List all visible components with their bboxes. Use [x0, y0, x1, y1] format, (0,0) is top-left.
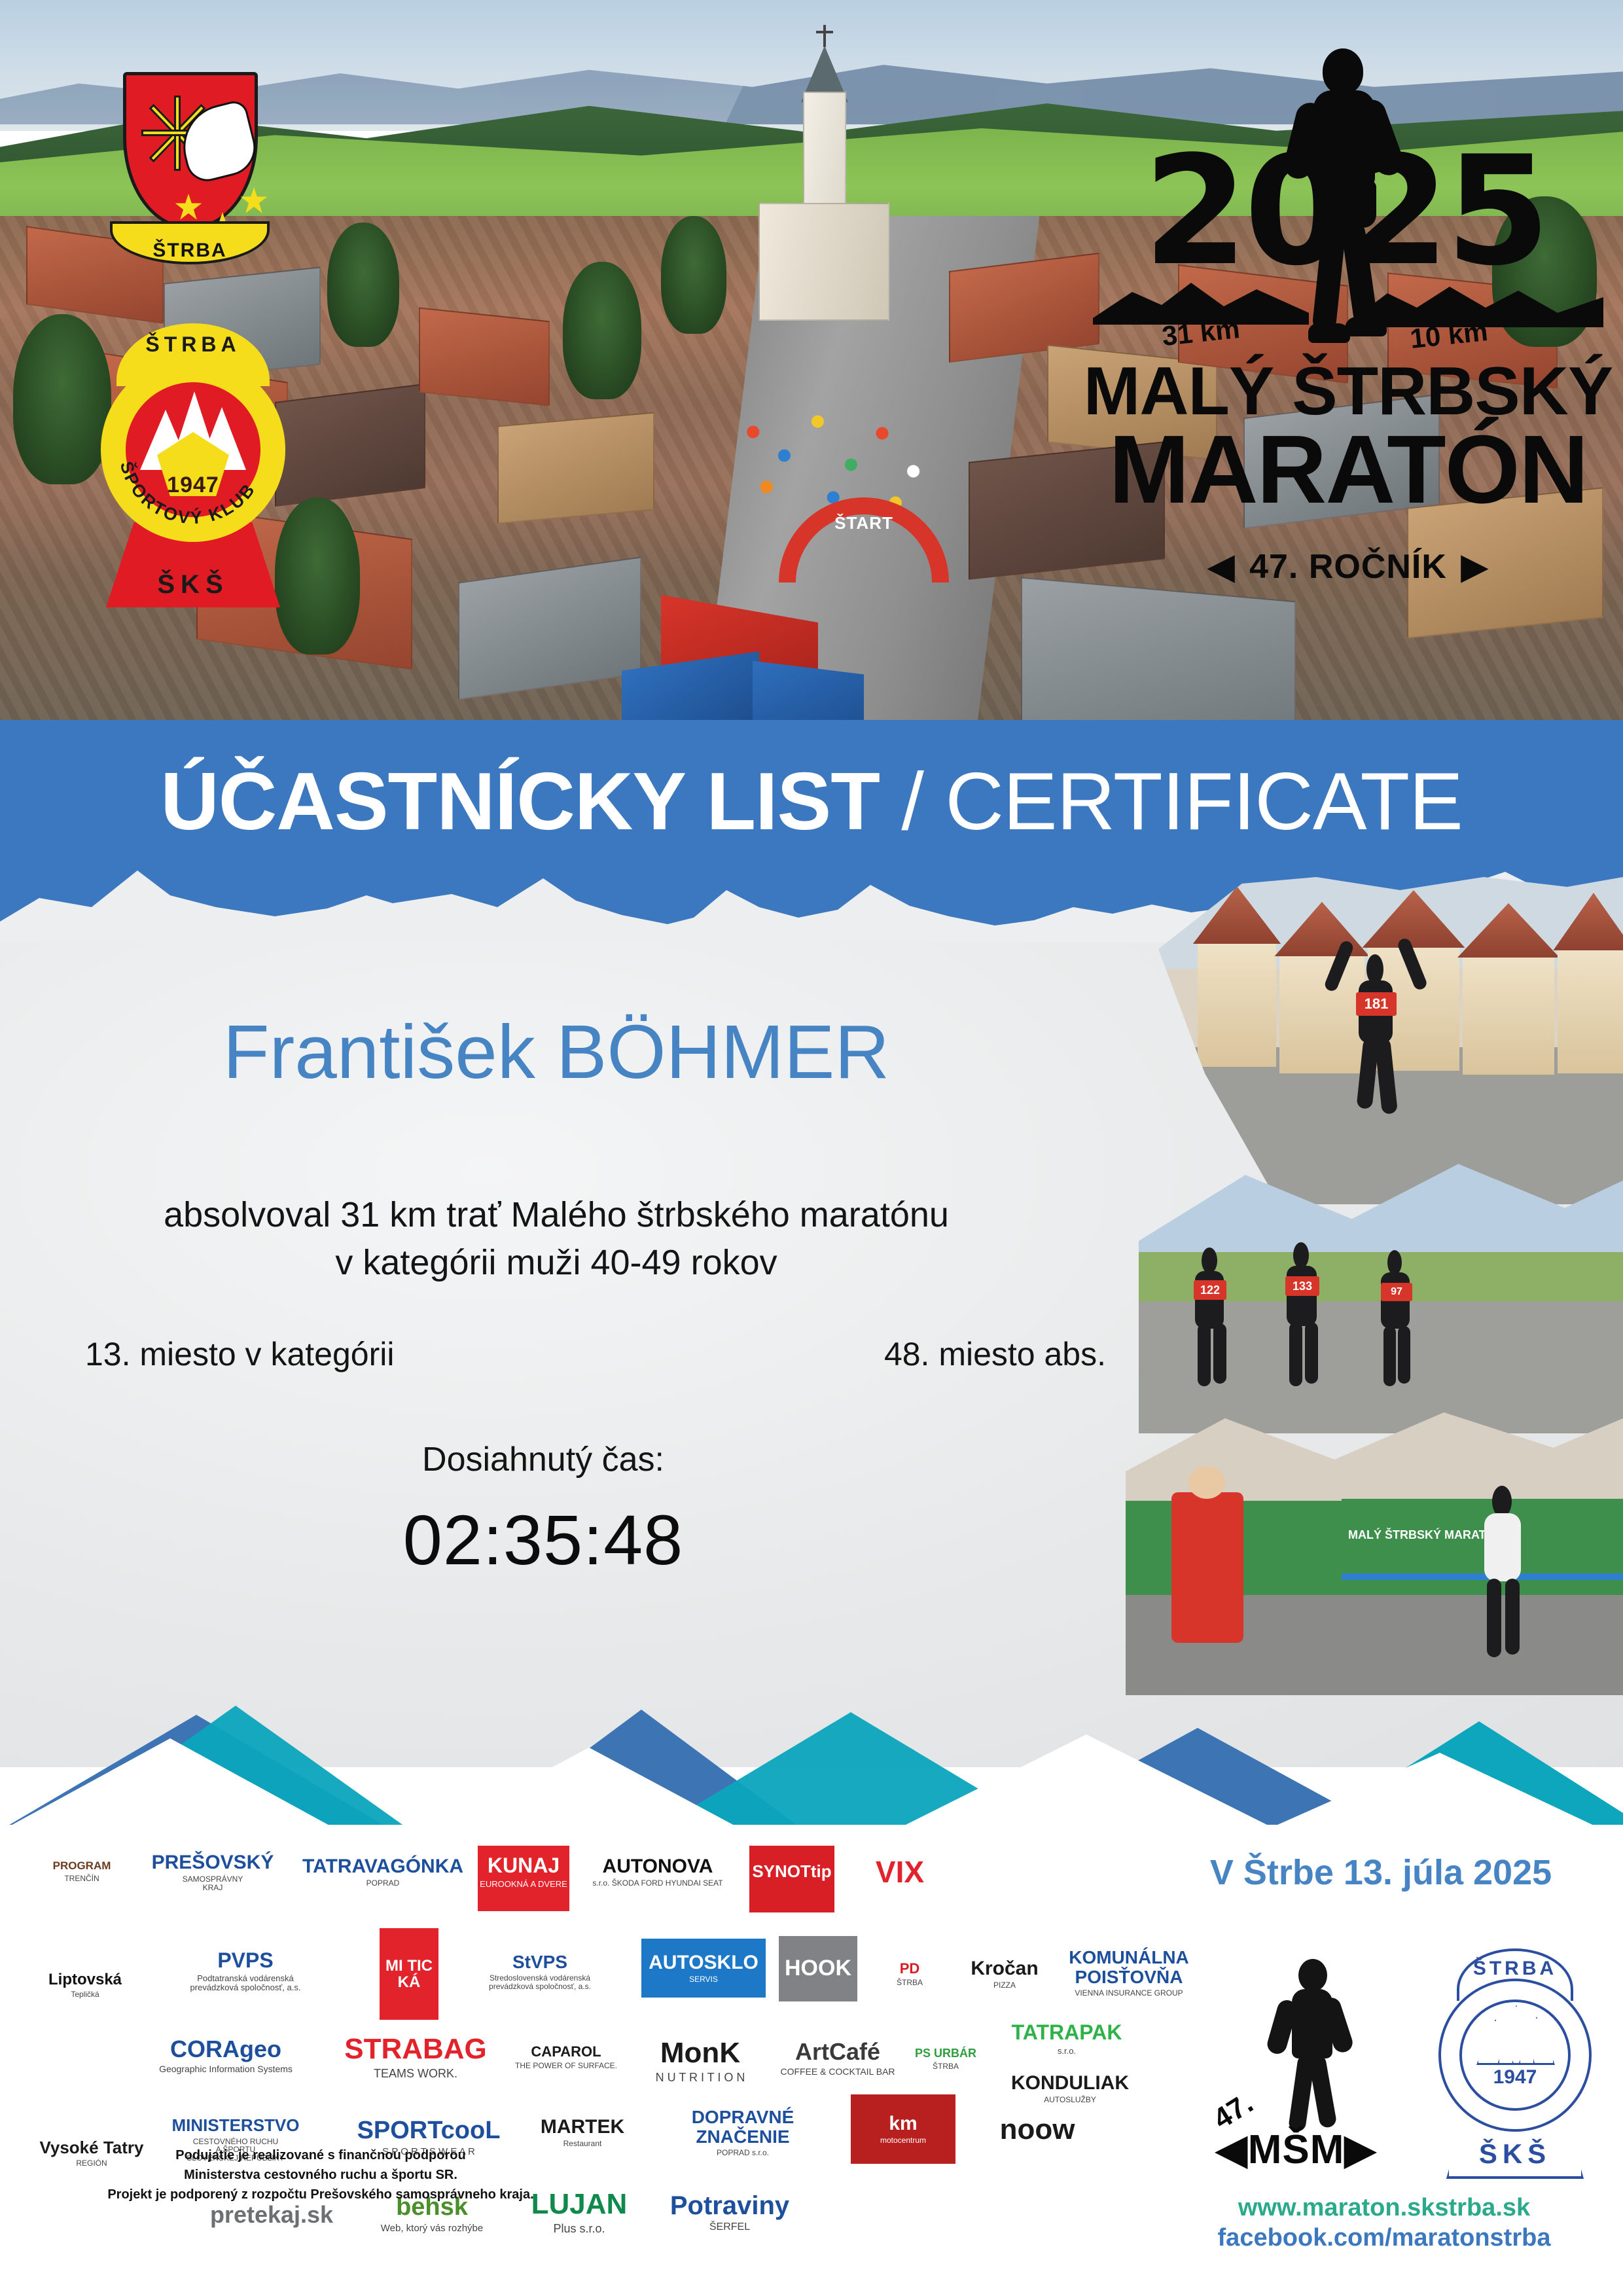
- sponsor-logo: PDŠTRBA: [870, 1935, 949, 2013]
- sponsor-name: TATRAVAGÓNKA: [302, 1856, 463, 1877]
- sponsor-tagline: SAMOSPRÁVNY KRAJ: [183, 1875, 243, 1892]
- sponsor-name: KONDULIAK: [1011, 2073, 1129, 2094]
- sponsor-name: km: [889, 2113, 917, 2134]
- finish-photo: 181: [1158, 877, 1623, 1204]
- sponsor-name: PROGRAM: [53, 1860, 111, 1872]
- page-title: ÚČASTNÍCKY LIST / CERTIFICATE: [160, 755, 1463, 848]
- sponsor-name: STRABAG: [344, 2034, 487, 2064]
- runner-silhouette-icon: [1279, 46, 1404, 353]
- event-name-line2: MARATÓN: [1080, 424, 1616, 515]
- sponsor-logo: AUTOSKLOSERVIS: [641, 1939, 766, 1998]
- sponsor-tagline: Podtatranská vodárenská prevádzková spol…: [190, 1974, 301, 1992]
- title-en: CERTIFICATE: [945, 757, 1462, 847]
- sponsor-logo: kmmotocentrum: [851, 2094, 955, 2164]
- sponsor-name: PVPS: [217, 1950, 273, 1972]
- bib-number: 133: [1285, 1276, 1319, 1296]
- rooftop: [497, 412, 654, 524]
- description-line-2: v kategórii muži 40-49 rokov: [0, 1239, 1113, 1287]
- event-logo: 2025 31 km 10 km MALÝ ŠTRBSKÝ MARATÓN ◀4…: [1080, 20, 1616, 609]
- mountain-divider: [0, 1676, 1623, 1846]
- sponsor-name: CORAgeo: [170, 2037, 281, 2062]
- time-label: Dosiahnutý čas:: [85, 1440, 1001, 1479]
- website-link[interactable]: www.maraton.skstrba.sk: [1158, 2193, 1610, 2223]
- sponsor-name: MonK: [660, 2038, 740, 2068]
- sponsor-logo: ArtCaféCOFFEE & COCKTAIL BAR: [779, 2022, 897, 2093]
- finish-time: 02:35:48: [85, 1499, 1001, 1581]
- sponsor-tagline: Tepličká: [71, 1990, 99, 1999]
- rooftop: [949, 253, 1099, 363]
- sponsor-name: TATRAPAK: [1012, 2022, 1122, 2044]
- sponsor-tagline: TRENČÍN: [64, 1874, 99, 1883]
- club-top-text: ŠTRBA: [116, 332, 270, 357]
- church: [789, 39, 861, 314]
- sponsor-name: AUTOSKLO: [649, 1952, 758, 1973]
- sponsor-name: MI TIC KÁ: [380, 1958, 438, 1990]
- sponsor-logo: LiptovskáTepličká: [39, 1929, 131, 2041]
- sponsor-logo: HOOK: [779, 1936, 857, 2001]
- sponsor-name: VIX: [876, 1856, 924, 1888]
- absolute-placement: 48. miesto abs.: [884, 1335, 1106, 1373]
- sponsor-tagline: TEAMS WORK.: [374, 2068, 457, 2080]
- sponsor-logo: MI TIC KÁ: [380, 1928, 438, 2020]
- event-edition: ◀47. ROČNÍK▶: [1080, 547, 1616, 586]
- sponsor-logo: noow: [988, 2098, 1086, 2161]
- sponsor-tagline: PIZZA: [993, 1981, 1016, 1990]
- sponsor-tagline: Stredoslovenská vodárenská prevádzková s…: [489, 1974, 591, 1990]
- event-name: MALÝ ŠTRBSKÝ MARATÓN: [1080, 360, 1616, 515]
- sponsor-name: Liptovská: [48, 1971, 122, 1988]
- sponsor-tagline: ŠTRBA: [897, 1979, 923, 1987]
- club-bottom-text: ŠKŠ: [1446, 2138, 1584, 2170]
- sponsor-name: DOPRAVNÉ ZNAČENIE: [692, 2108, 794, 2146]
- sponsor-logo: MonKN U T R I T I O N: [641, 2030, 759, 2092]
- tree: [327, 223, 399, 347]
- sponsor-logo: PotravinyŠERFEL: [661, 2181, 798, 2244]
- sponsor-tagline: SERVIS: [689, 1975, 718, 1984]
- church-body: [758, 203, 889, 321]
- club-top-text: ŠTRBA: [1457, 1958, 1573, 1980]
- cross-icon: [823, 25, 826, 47]
- sponsor-tagline: motocentrum: [880, 2136, 926, 2145]
- bib-number: 97: [1381, 1283, 1412, 1301]
- sponsor-name: PREŠOVSKÝ: [152, 1852, 274, 1873]
- participant-name: František BÖHMER: [0, 1008, 1113, 1096]
- sponsor-name: PD: [900, 1961, 920, 1976]
- sponsor-name: noow: [1000, 2115, 1075, 2145]
- sponsor-logo: PS URBÁRŠTRBA: [910, 2021, 982, 2097]
- sponsor-tagline: N U T R I T I O N: [656, 2072, 745, 2084]
- tree: [661, 216, 726, 334]
- sponsor-name: pretekaj.sk: [210, 2202, 333, 2227]
- sponsor-name: AUTONOVA: [603, 1856, 713, 1877]
- sponsor-tagline: Plus s.r.o.: [553, 2223, 605, 2235]
- sponsor-name: MARTEK: [541, 2117, 624, 2138]
- svg-text:ŠPORTOVÝ KLUB: ŠPORTOVÝ KLUB: [116, 459, 260, 528]
- sponsor-name: Potraviny: [670, 2192, 789, 2219]
- web-links[interactable]: www.maraton.skstrba.sk facebook.com/mara…: [1158, 2193, 1610, 2253]
- title-separator: /: [880, 757, 945, 847]
- sponsor-name: CAPAROL: [531, 2044, 601, 2059]
- funding-note-line-1: Podujatie je realizované s finančnou pod…: [72, 2145, 569, 2165]
- sponsor-logo: KročanPIZZA: [962, 1935, 1047, 2013]
- strba-coat-of-arms: ŠTRBA: [105, 72, 275, 268]
- sponsor-name: MINISTERSTVO: [171, 2117, 299, 2134]
- finish-line-photo: MALÝ ŠTRBSKÝ MARATÓN: [1126, 1401, 1623, 1695]
- club-bottom-text: ŠKŠ: [106, 570, 280, 600]
- mountain-icon: [1476, 2005, 1555, 2065]
- issue-date: V Štrbe 13. júla 2025: [1165, 1852, 1597, 1893]
- photo-collage: 181 122 133 97 MALÝ ŠTRBSKÝ MARATÓN: [1113, 877, 1623, 1695]
- sponsor-logo: PVPSPodtatranská vodárenská prevádzková …: [137, 1935, 353, 2007]
- sks-club-logo-footer: ŠTRBA 1947 ŠKŠ: [1433, 1941, 1597, 2183]
- msm-logo: 47. ◀MŠM▶: [1204, 1947, 1400, 2176]
- achievement-description: absolvoval 31 km trať Malého štrbského m…: [0, 1191, 1113, 1287]
- sponsor-tagline: THE POWER OF SURFACE.: [515, 2062, 617, 2070]
- start-banner-text: ŠTART: [834, 513, 893, 533]
- sponsor-tagline: POPRAD s.r.o.: [717, 2149, 769, 2157]
- sponsor-name: HOOK: [785, 1957, 851, 1981]
- tree: [563, 262, 641, 399]
- club-arc-text: ŠPORTOVÝ KLUB: [101, 357, 285, 542]
- funding-note-line-3: Projekt je podporený z rozpočtu Prešovsk…: [72, 2185, 569, 2204]
- title-sk: ÚČASTNÍCKY LIST: [160, 757, 880, 847]
- sponsor-logo: CAPAROLTHE POWER OF SURFACE.: [510, 2022, 622, 2092]
- sponsor-name: Kročan: [971, 1958, 1038, 1979]
- sponsor-logo: CORAgeoGeographic Information Systems: [137, 2024, 314, 2087]
- funding-note-line-2: Ministerstva cestovného ruchu a športu S…: [72, 2165, 569, 2185]
- sponsor-name: ArtCafé: [795, 2039, 880, 2064]
- sponsor-name: PS URBÁR: [915, 2047, 976, 2060]
- bib-number: 181: [1356, 992, 1397, 1016]
- club-year: 1947: [1459, 2066, 1571, 2089]
- sponsor-tagline: VIENNA INSURANCE GROUP: [1075, 1989, 1183, 1998]
- race-banner: MALÝ ŠTRBSKÝ MARATÓN: [1342, 1499, 1623, 1571]
- sponsor-tagline: ŠERFEL: [709, 2222, 750, 2233]
- sponsor-tagline: s.r.o.: [1058, 2047, 1076, 2056]
- sponsor-name: StVPS: [512, 1952, 567, 1971]
- sponsor-logo: DOPRAVNÉ ZNAČENIEPOPRAD s.r.o.: [661, 2102, 825, 2162]
- rooftop: [419, 307, 550, 406]
- sponsor-logo: TATRAVAGÓNKAPOPRAD: [301, 1839, 465, 1905]
- sponsor-tagline: Geographic Information Systems: [159, 2064, 293, 2074]
- sponsor-name: KUNAJ: [488, 1855, 560, 1877]
- sponsor-logo: PREŠOVSKÝSAMOSPRÁVNY KRAJ: [137, 1838, 288, 1906]
- coat-of-arms-label: ŠTRBA: [105, 240, 275, 262]
- sponsor-tagline: Web, ktorý vás rozhýbe: [381, 2223, 483, 2234]
- sponsor-tagline: ŠTRBA: [933, 2062, 959, 2071]
- sponsor-tagline: EUROOKNÁ A DVERE: [480, 1880, 567, 1889]
- sponsor-tagline: COFFEE & COCKTAIL BAR: [780, 2067, 895, 2077]
- sponsor-logo: KOMUNÁLNA POISŤOVŇAVIENNA INSURANCE GROU…: [1054, 1940, 1204, 2005]
- footer: PROGRAMTRENČÍNPREŠOVSKÝSAMOSPRÁVNY KRAJT…: [0, 1806, 1623, 2296]
- sponsor-name: SPORTcooL: [357, 2118, 501, 2144]
- distance-long-badge: 31 km: [1093, 279, 1309, 351]
- sponsor-logo: STRABAGTEAMS WORK.: [340, 2026, 491, 2088]
- sks-club-logo: 1947 ŠPORTOVÝ KLUB ŠTRBA ŠKŠ: [92, 321, 294, 609]
- placement-row: 13. miesto v kategórii 48. miesto abs.: [85, 1335, 1106, 1373]
- sponsor-name: KOMUNÁLNA POISŤOVŇA: [1069, 1948, 1189, 1986]
- edition-label: 47. ROČNÍK: [1249, 548, 1447, 586]
- sponsor-logo: StVPSStredoslovenská vodárenská prevádzk…: [452, 1932, 628, 2011]
- sponsor-tagline: s.r.o. ŠKODA FORD HYUNDAI SEAT: [592, 1879, 722, 1888]
- left-arrow-icon: ◀: [1208, 547, 1235, 586]
- category-placement: 13. miesto v kategórii: [85, 1335, 394, 1373]
- sponsor-tagline: POPRAD: [366, 1879, 400, 1888]
- description-line-1: absolvoval 31 km trať Malého štrbského m…: [0, 1191, 1113, 1239]
- sponsor-name: SYNOTtip: [752, 1863, 831, 1880]
- right-arrow-icon: ▶: [1461, 547, 1488, 586]
- sponsor-logo: TATRAPAKs.r.o.: [995, 2016, 1139, 2062]
- funding-note: Podujatie je realizované s finančnou pod…: [72, 2145, 569, 2204]
- bib-number: 122: [1194, 1280, 1226, 1300]
- msm-abbr: ◀MŠM▶: [1216, 2125, 1376, 2173]
- facebook-link[interactable]: facebook.com/maratonstrba: [1158, 2223, 1610, 2253]
- rooftop: [275, 384, 425, 507]
